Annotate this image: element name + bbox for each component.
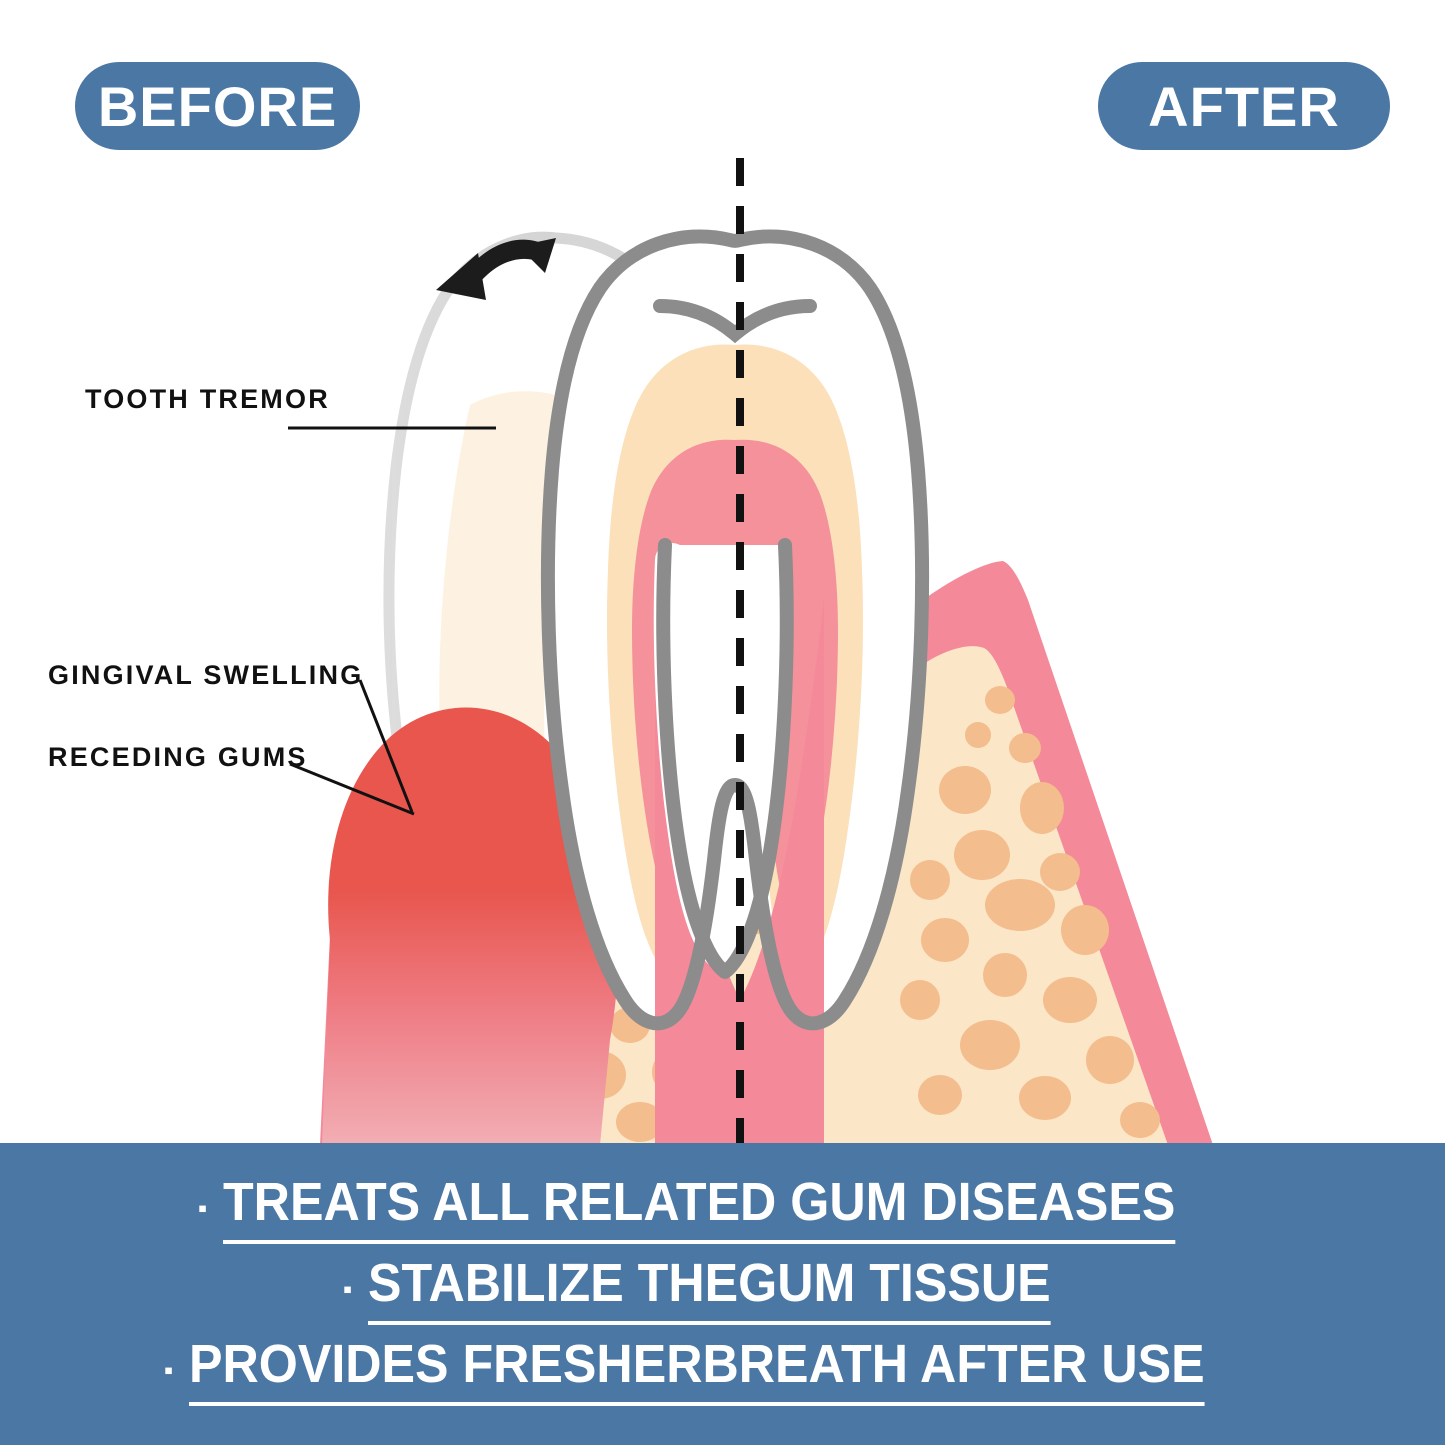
- badge-before-label: BEFORE: [98, 74, 337, 139]
- bullet-square-icon: ▪: [343, 1276, 352, 1302]
- callout-label-tooth-tremor: TOOTH TREMOR: [85, 384, 330, 415]
- bullet-square-icon: ▪: [164, 1357, 173, 1383]
- benefit-text: TREATS ALL RELATED GUM DISEASES: [223, 1169, 1175, 1244]
- benefit-item: ▪ TREATS ALL RELATED GUM DISEASES: [0, 1169, 1445, 1244]
- benefit-text: PROVIDES FRESHERBREATH AFTER USE: [189, 1331, 1205, 1406]
- benefit-item: ▪ PROVIDES FRESHERBREATH AFTER USE: [0, 1331, 1445, 1406]
- tooth-tremor-arrow: [436, 238, 556, 300]
- badge-after: AFTER: [1098, 62, 1390, 150]
- benefits-banner: ▪ TREATS ALL RELATED GUM DISEASES ▪ STAB…: [0, 1143, 1445, 1445]
- bullet-square-icon: ▪: [198, 1195, 207, 1221]
- badge-after-label: AFTER: [1148, 74, 1340, 139]
- callout-label-receding-gums: RECEDING GUMS: [48, 742, 308, 773]
- benefit-text: STABILIZE THEGUM TISSUE: [368, 1250, 1051, 1325]
- callout-label-gingival-swelling: GINGIVAL SWELLING: [48, 660, 363, 691]
- badge-before: BEFORE: [75, 62, 360, 150]
- benefit-item: ▪ STABILIZE THEGUM TISSUE: [0, 1250, 1445, 1325]
- infographic-root: BEFORE AFTER TOOTH TREMOR GINGIVAL SWELL…: [0, 0, 1445, 1445]
